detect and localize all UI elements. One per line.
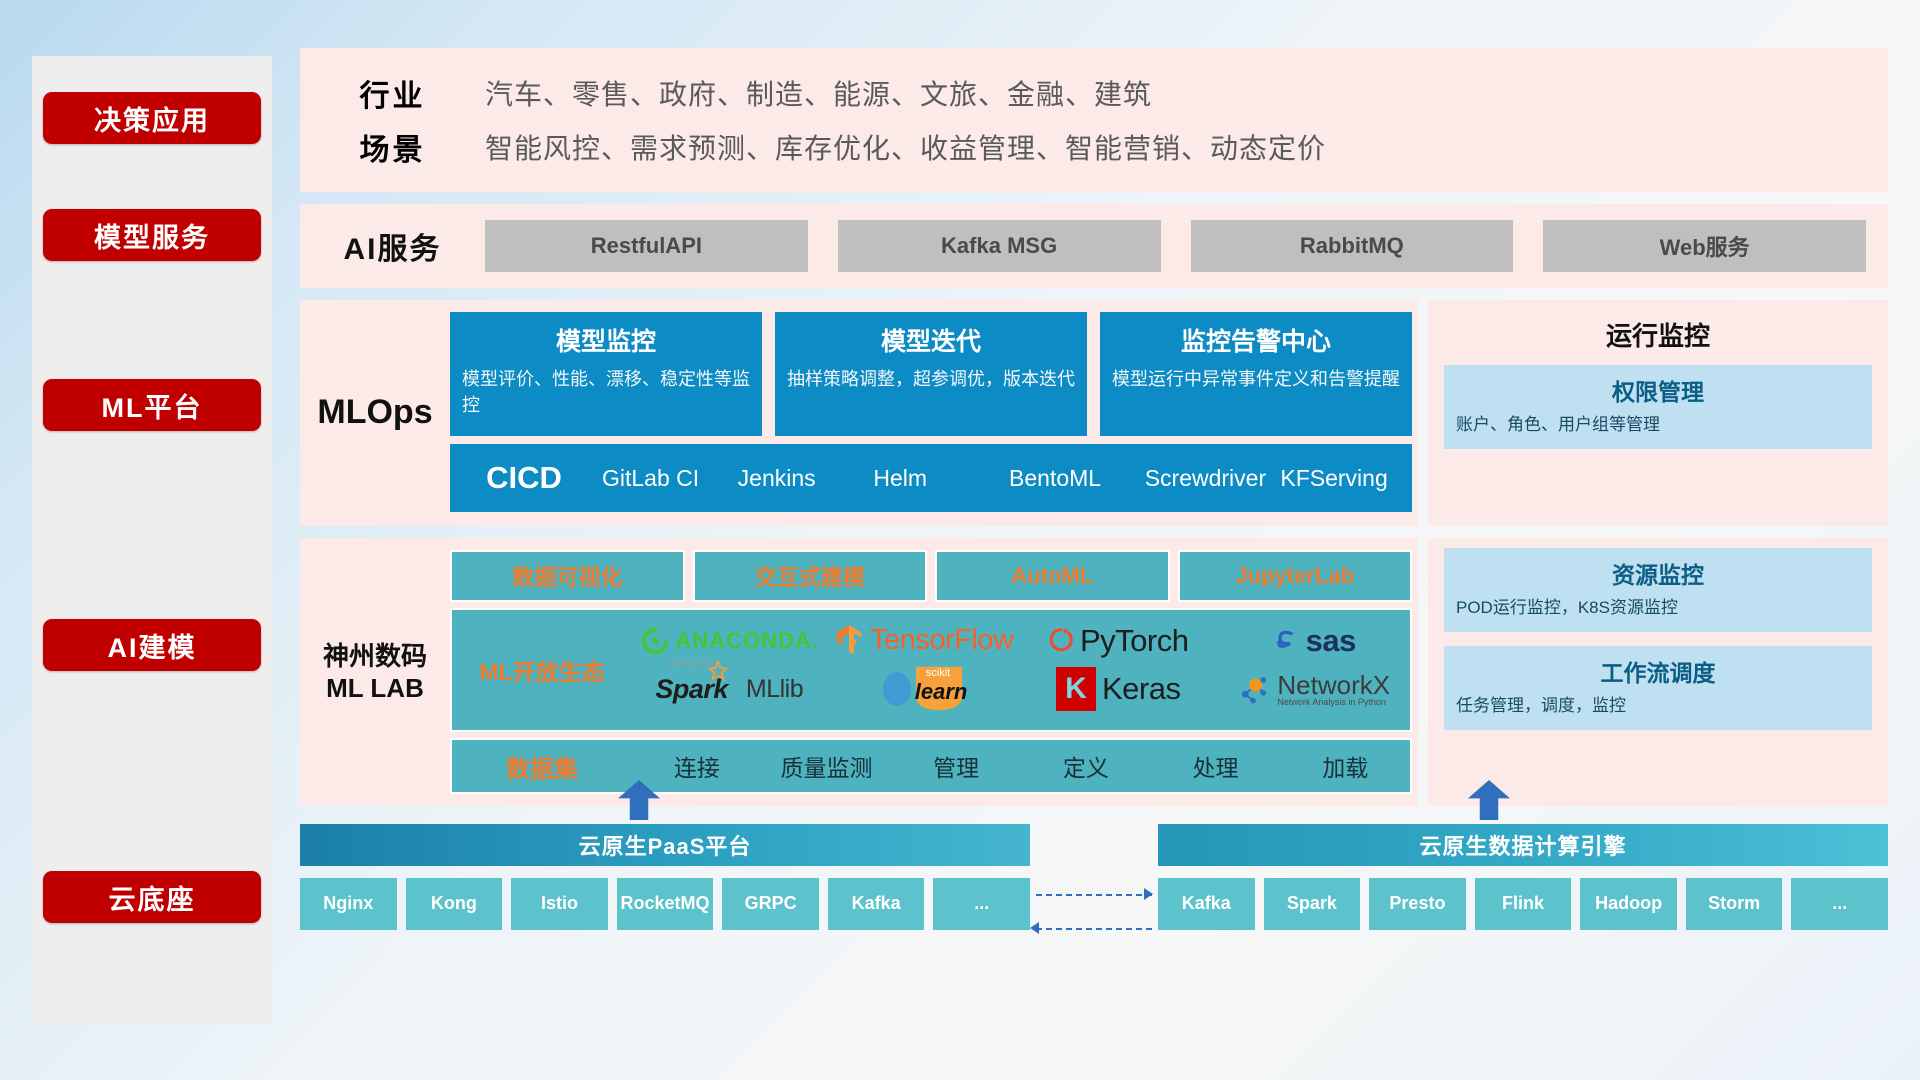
cloud-chip-hadoop[interactable]: Hadoop xyxy=(1580,878,1677,930)
mlops-card-desc: 抽样策略调整，超参调优，版本迭代 xyxy=(787,367,1075,393)
band-divider xyxy=(300,288,1888,300)
dataset-title: 数据集 xyxy=(452,749,632,784)
dataset-item-processing[interactable]: 处理 xyxy=(1151,749,1281,783)
cicd-item-helm[interactable]: Helm xyxy=(869,466,1005,490)
dashed-link-right xyxy=(1036,894,1152,896)
anaconda-logo-text: ANACONDA. xyxy=(676,628,819,654)
tool-chip-automl[interactable]: AutoML xyxy=(935,550,1170,602)
cloud-chip-kong[interactable]: Kong xyxy=(406,878,503,930)
pytorch-logo: PyTorch xyxy=(1048,623,1188,659)
cloud-chip-kafka-right[interactable]: Kafka xyxy=(1158,878,1255,930)
ai-service-chip-restfulapi[interactable]: RestfulAPI xyxy=(485,220,808,272)
cloud-paas-chips: Nginx Kong Istio RocketMQ GRPC Kafka ... xyxy=(300,878,1030,930)
mlops-content: 模型监控 模型评价、性能、漂移、稳定性等监控 模型迭代 抽样策略调整，超参调优，… xyxy=(450,312,1418,512)
ml-lab-content: 数据可视化 交互式建模 AutoML JupyterLab ML开放生态 xyxy=(450,550,1418,794)
cloud-paas-header: 云原生PaaS平台 xyxy=(300,824,1030,866)
ai-service-label: AI服务 xyxy=(300,224,485,268)
cloud-link-area xyxy=(1030,824,1158,930)
monitoring-card-workflow[interactable]: 工作流调度 任务管理，调度，监控 xyxy=(1444,646,1872,730)
mlops-card-desc: 模型评价、性能、漂移、稳定性等监控 xyxy=(462,367,750,418)
keras-logo-text: Keras xyxy=(1102,671,1180,707)
tool-chip-interactive-modeling[interactable]: 交互式建模 xyxy=(693,550,928,602)
band-divider xyxy=(300,526,1888,538)
networkx-logo-text: NetworkX xyxy=(1277,672,1390,698)
cicd-item-bentoml[interactable]: BentoML xyxy=(1005,466,1141,490)
ml-ecosystem-band: ML开放生态 ANACONDA. xyxy=(450,608,1412,732)
monitoring-card-desc: 账户、角色、用户组等管理 xyxy=(1456,413,1860,437)
sas-logo-text: sas xyxy=(1306,623,1356,659)
mlops-label: MLOps xyxy=(300,393,450,432)
networkx-logo-subtext: Network Analysis in Python xyxy=(1277,698,1390,707)
anaconda-logo: ANACONDA. xyxy=(640,626,819,656)
cloud-chip-nginx[interactable]: Nginx xyxy=(300,878,397,930)
cicd-item-kfserving[interactable]: KFServing xyxy=(1276,466,1412,490)
mlops-card-alert-center[interactable]: 监控告警中心 模型运行中异常事件定义和告警提醒 xyxy=(1100,312,1412,436)
tensorflow-logo-text: TensorFlow xyxy=(870,624,1013,657)
mlops-card-title: 模型监控 xyxy=(462,322,750,358)
tensorflow-logo: TensorFlow xyxy=(834,624,1013,658)
layer-rail: 决策应用 模型服务 ML平台 AI建模 云底座 xyxy=(32,56,272,1024)
dataset-band: 数据集 连接 质量监测 管理 定义 处理 加载 xyxy=(450,738,1412,794)
mlops-card-title: 模型迭代 xyxy=(787,322,1075,358)
ml-platform-section: MLOps 模型监控 模型评价、性能、漂移、稳定性等监控 模型迭代 抽样策略调整… xyxy=(300,300,1888,526)
layer-chip-ml-platform[interactable]: ML平台 xyxy=(43,379,261,431)
keras-mark: K xyxy=(1056,667,1096,711)
industry-label: 行业 xyxy=(300,71,485,115)
layer-chip-cloud-base[interactable]: 云底座 xyxy=(43,871,261,923)
cloud-chip-more-left[interactable]: ... xyxy=(933,878,1030,930)
decision-application-band: 行业 汽车、零售、政府、制造、能源、文旅、金融、建筑 场景 智能风控、需求预测、… xyxy=(300,48,1888,192)
scikit-learn-logo: scikit learn xyxy=(880,661,968,718)
monitoring-panel-top: 运行监控 权限管理 账户、角色、用户组等管理 xyxy=(1428,300,1888,526)
scenario-label: 场景 xyxy=(300,125,485,169)
mllib-logo-text: MLlib xyxy=(746,675,803,704)
scikit-logo-text: scikit xyxy=(926,667,950,679)
cicd-bar: CICD GitLab CI Jenkins Helm BentoML Scre… xyxy=(450,444,1412,512)
mlops-card-desc: 模型运行中异常事件定义和告警提醒 xyxy=(1112,367,1400,393)
layer-slot-cloud-base: 云底座 xyxy=(32,770,272,1024)
monitoring-panel-bottom: 资源监控 POD运行监控，K8S资源监控 工作流调度 任务管理，调度，监控 xyxy=(1428,538,1888,806)
cloud-chip-storm[interactable]: Storm xyxy=(1686,878,1783,930)
ai-modeling-section: 神州数码 ML LAB 数据可视化 交互式建模 AutoML JupyterLa… xyxy=(300,538,1888,806)
cicd-title: CICD xyxy=(450,460,598,496)
ai-service-chip-kafka-msg[interactable]: Kafka MSG xyxy=(838,220,1161,272)
learn-logo-text: learn xyxy=(915,679,968,705)
cloud-foundation-section: 云原生PaaS平台 Nginx Kong Istio RocketMQ GRPC… xyxy=(300,824,1888,930)
ai-service-chip-web-service[interactable]: Web服务 xyxy=(1543,220,1866,272)
mlops-band: MLOps 模型监控 模型评价、性能、漂移、稳定性等监控 模型迭代 抽样策略调整… xyxy=(300,300,1418,526)
monitoring-card-resource[interactable]: 资源监控 POD运行监控，K8S资源监控 xyxy=(1444,548,1872,632)
cloud-chip-presto[interactable]: Presto xyxy=(1369,878,1466,930)
cloud-compute-chips: Kafka Spark Presto Flink Hadoop Storm ..… xyxy=(1158,878,1888,930)
mlops-card-list: 模型监控 模型评价、性能、漂移、稳定性等监控 模型迭代 抽样策略调整，超参调优，… xyxy=(450,312,1412,436)
monitoring-card-title: 工作流调度 xyxy=(1456,654,1860,688)
cicd-item-screwdriver[interactable]: Screwdriver xyxy=(1141,466,1277,490)
cloud-paas-group: 云原生PaaS平台 Nginx Kong Istio RocketMQ GRPC… xyxy=(300,824,1030,930)
cloud-compute-header: 云原生数据计算引擎 xyxy=(1158,824,1888,866)
sas-logo: sas xyxy=(1270,623,1356,659)
monitoring-card-desc: POD运行监控，K8S资源监控 xyxy=(1456,596,1860,620)
layer-slot-model-service: 模型服务 xyxy=(32,180,272,290)
layer-chip-model-service[interactable]: 模型服务 xyxy=(43,209,261,261)
keras-logo: K Keras xyxy=(1056,667,1180,711)
layer-slot-decision: 决策应用 xyxy=(32,56,272,180)
architecture-main: 行业 汽车、零售、政府、制造、能源、文旅、金融、建筑 场景 智能风控、需求预测、… xyxy=(300,48,1888,930)
tool-chip-jupyterlab[interactable]: JupyterLab xyxy=(1178,550,1413,602)
monitoring-card-title: 权限管理 xyxy=(1456,373,1860,407)
pytorch-logo-text: PyTorch xyxy=(1080,623,1188,659)
cloud-chip-spark[interactable]: Spark xyxy=(1264,878,1361,930)
cloud-chip-grpc[interactable]: GRPC xyxy=(722,878,819,930)
scenario-row: 场景 智能风控、需求预测、库存优化、收益管理、智能营销、动态定价 xyxy=(300,120,1888,174)
mlops-card-title: 监控告警中心 xyxy=(1112,322,1400,358)
cloud-chip-more-right[interactable]: ... xyxy=(1791,878,1888,930)
layer-chip-decision[interactable]: 决策应用 xyxy=(43,92,261,144)
dashed-arrowhead-left xyxy=(1030,922,1039,934)
ml-lab-label-line1: 神州数码 xyxy=(323,641,427,671)
band-divider xyxy=(300,192,1888,204)
monitoring-card-title: 资源监控 xyxy=(1456,556,1860,590)
dataset-item-connect[interactable]: 连接 xyxy=(632,749,762,783)
cloud-compute-group: 云原生数据计算引擎 Kafka Spark Presto Flink Hadoo… xyxy=(1158,824,1888,930)
dashed-arrowhead-right xyxy=(1144,888,1153,900)
monitoring-card-permission[interactable]: 权限管理 账户、角色、用户组等管理 xyxy=(1444,365,1872,449)
monitoring-card-desc: 任务管理，调度，监控 xyxy=(1456,694,1860,718)
ml-lab-band: 神州数码 ML LAB 数据可视化 交互式建模 AutoML JupyterLa… xyxy=(300,538,1418,806)
cloud-chip-flink[interactable]: Flink xyxy=(1475,878,1572,930)
layer-chip-ai-modeling[interactable]: AI建模 xyxy=(43,619,261,671)
monitoring-title: 运行监控 xyxy=(1444,316,1872,353)
cicd-item-jenkins[interactable]: Jenkins xyxy=(734,466,870,490)
ml-ecosystem-logo-grid: ANACONDA. TensorFlow xyxy=(632,623,1410,718)
ai-service-band: AI服务 RestfulAPI Kafka MSG RabbitMQ Web服务 xyxy=(300,204,1888,288)
cloud-chip-istio[interactable]: Istio xyxy=(511,878,608,930)
cloud-chip-rocketmq[interactable]: RocketMQ xyxy=(617,878,714,930)
ai-service-track: RestfulAPI Kafka MSG RabbitMQ Web服务 xyxy=(485,220,1888,272)
dataset-item-quality-monitoring[interactable]: 质量监测 xyxy=(762,749,892,783)
layer-slot-ml-platform: ML平台 xyxy=(32,290,272,520)
dashed-link-left xyxy=(1036,928,1152,930)
dataset-item-definition[interactable]: 定义 xyxy=(1021,749,1151,783)
ml-lab-label-line2: ML LAB xyxy=(326,673,424,703)
ml-lab-label: 神州数码 ML LAB xyxy=(300,640,450,705)
mlops-card-model-iteration[interactable]: 模型迭代 抽样策略调整，超参调优，版本迭代 xyxy=(775,312,1087,436)
dataset-item-management[interactable]: 管理 xyxy=(891,749,1021,783)
ml-lab-tool-row: 数据可视化 交互式建模 AutoML JupyterLab xyxy=(450,550,1412,602)
scenario-values: 智能风控、需求预测、库存优化、收益管理、智能营销、动态定价 xyxy=(485,127,1326,167)
ml-ecosystem-label: ML开放生态 xyxy=(452,653,632,687)
cloud-chip-kafka[interactable]: Kafka xyxy=(828,878,925,930)
cicd-item-gitlab-ci[interactable]: GitLab CI xyxy=(598,466,734,490)
ai-service-chip-rabbitmq[interactable]: RabbitMQ xyxy=(1191,220,1514,272)
tool-chip-data-visualization[interactable]: 数据可视化 xyxy=(450,550,685,602)
industry-row: 行业 汽车、零售、政府、制造、能源、文旅、金融、建筑 xyxy=(300,66,1888,120)
spark-mllib-logo: APACHE Spark MLlib xyxy=(655,674,803,705)
industry-values: 汽车、零售、政府、制造、能源、文旅、金融、建筑 xyxy=(485,73,1152,113)
dataset-item-loading[interactable]: 加载 xyxy=(1280,749,1410,783)
networkx-logo: NetworkX Network Analysis in Python xyxy=(1235,671,1390,707)
layer-slot-ai-modeling: AI建模 xyxy=(32,520,272,770)
mlops-card-model-monitoring[interactable]: 模型监控 模型评价、性能、漂移、稳定性等监控 xyxy=(450,312,762,436)
